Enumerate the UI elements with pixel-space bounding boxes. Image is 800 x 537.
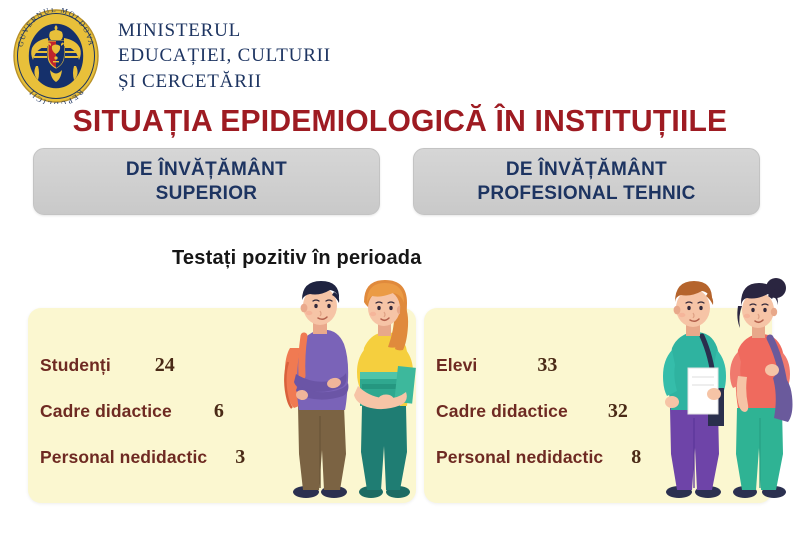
category-box-higher-education[interactable]: DE ÎNVĂȚĂMÂNT SUPERIOR xyxy=(33,148,380,215)
stat-value: 32 xyxy=(608,400,628,423)
students-pair-illustration xyxy=(282,266,420,501)
ministry-line-3: ȘI CERCETĂRII xyxy=(118,69,331,94)
ministry-logo-block: GUVERNUL MOLDOVA REPUBLICII xyxy=(10,8,331,104)
ministry-name: MINISTERUL EDUCAȚIEI, CULTURII ȘI CERCET… xyxy=(118,18,331,93)
category-box-higher-education-line1: DE ÎNVĂȚĂMÂNT xyxy=(126,158,287,181)
stat-label: Cadre didactice xyxy=(40,401,172,422)
stat-value: 3 xyxy=(235,446,245,469)
category-box-vocational-education[interactable]: DE ÎNVĂȚĂMÂNT PROFESIONAL TEHNIC xyxy=(413,148,760,215)
stat-label: Elevi xyxy=(436,355,477,376)
category-box-vocational-education-line2: PROFESIONAL TEHNIC xyxy=(477,182,695,205)
stat-row: Personal nedidactic 3 xyxy=(40,446,245,469)
stat-row: Cadre didactice 32 xyxy=(436,400,628,423)
stat-value: 33 xyxy=(537,354,557,377)
stat-value: 6 xyxy=(214,400,224,423)
female-pupil-with-backpack-figure xyxy=(730,278,793,498)
stat-label: Cadre didactice xyxy=(436,401,568,422)
stat-label: Studenți xyxy=(40,355,111,376)
page-title: SITUAȚIA EPIDEMIOLOGICĂ ÎN INSTITUȚIILE xyxy=(12,103,788,139)
stat-row: Elevi 33 xyxy=(436,354,557,377)
stat-row: Personal nedidactic 8 xyxy=(436,446,641,469)
male-student-with-backpack-figure xyxy=(285,281,349,498)
stat-label: Personal nedidactic xyxy=(40,447,207,468)
stat-value: 8 xyxy=(631,446,641,469)
stat-value: 24 xyxy=(155,354,175,377)
stat-label: Personal nedidactic xyxy=(436,447,603,468)
ministry-line-1: MINISTERUL xyxy=(118,18,331,43)
category-box-vocational-education-line1: DE ÎNVĂȚĂMÂNT xyxy=(477,158,695,181)
stat-row: Studenți 24 xyxy=(40,354,175,377)
male-pupil-with-folder-figure xyxy=(663,281,726,498)
ministry-line-2: EDUCAȚIEI, CULTURII xyxy=(118,43,331,68)
pupils-pair-illustration xyxy=(652,266,798,501)
moldova-government-emblem-icon: GUVERNUL MOLDOVA REPUBLICII xyxy=(10,8,102,104)
category-box-higher-education-line2: SUPERIOR xyxy=(126,182,287,205)
stat-row: Cadre didactice 6 xyxy=(40,400,224,423)
female-student-with-books-figure xyxy=(354,280,416,498)
